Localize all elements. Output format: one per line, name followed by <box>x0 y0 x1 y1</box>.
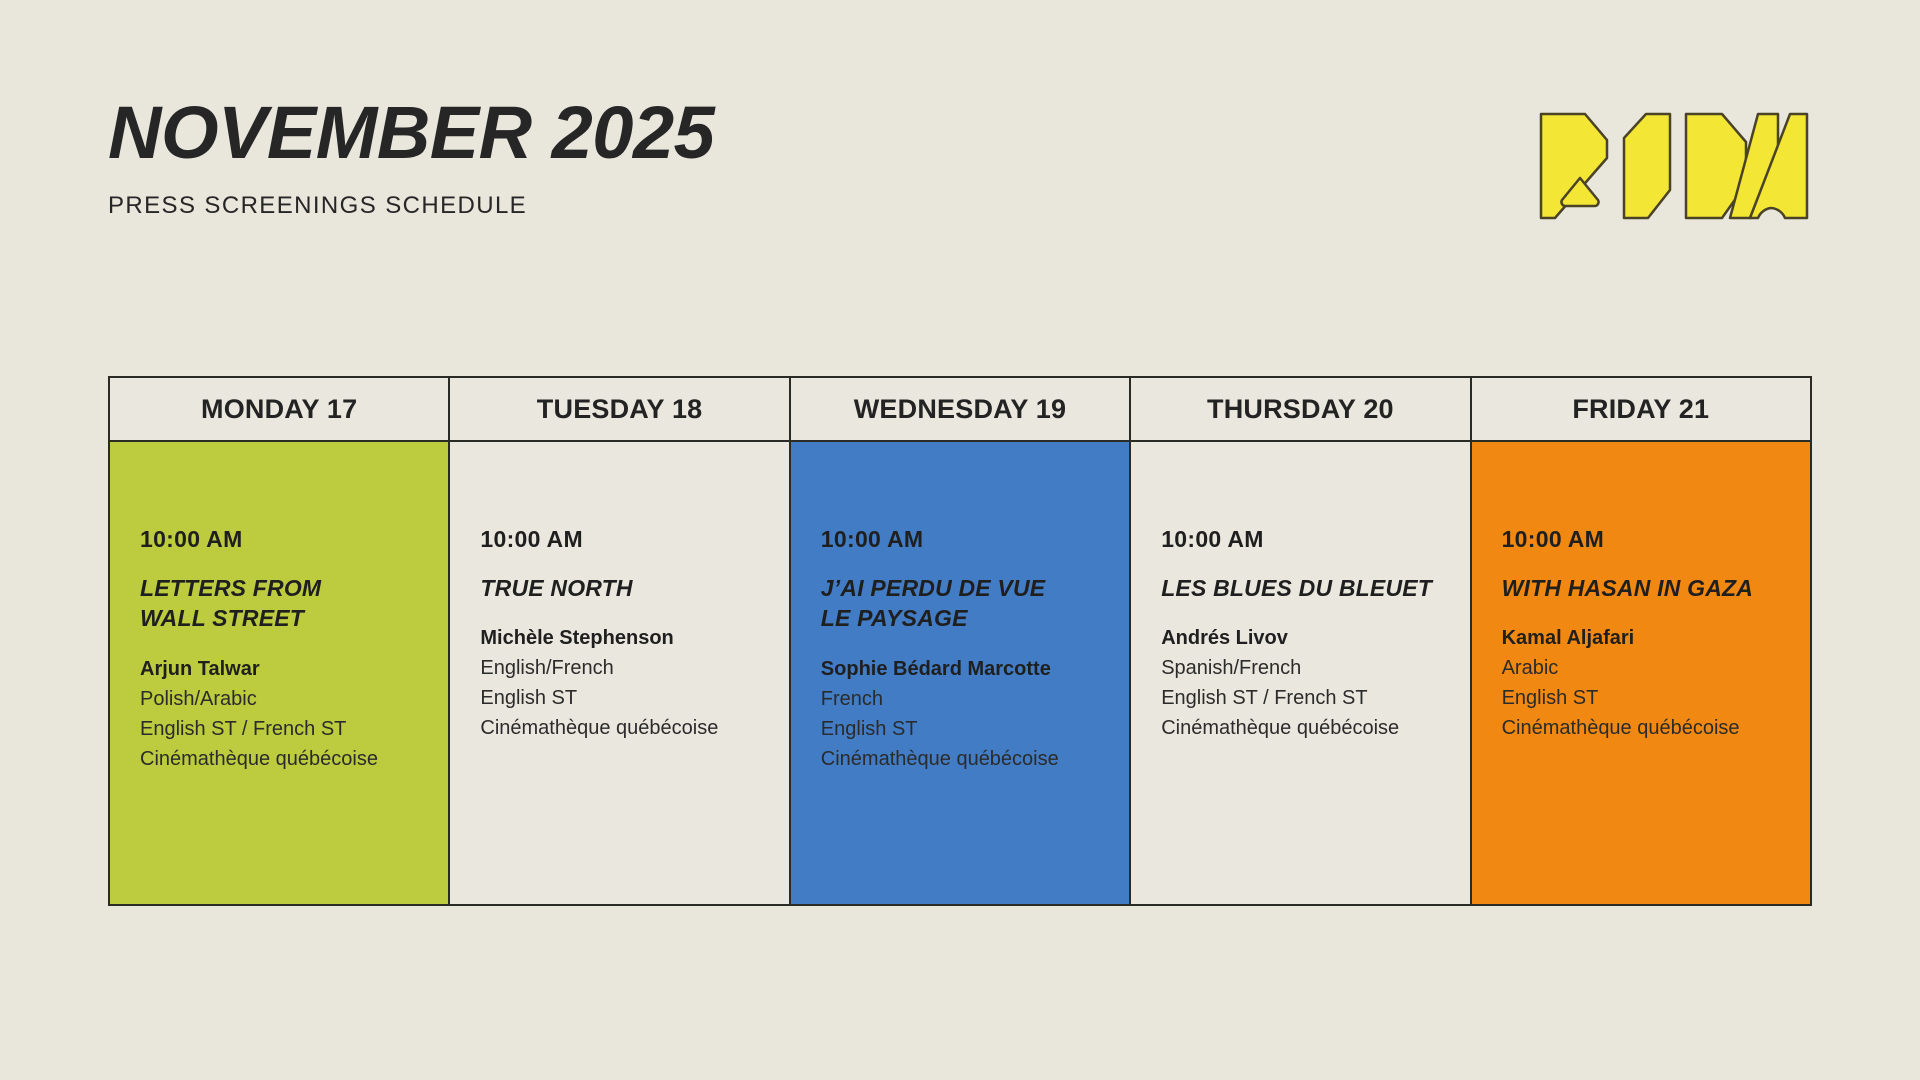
film-title: LES BLUES DU BLEUET <box>1161 573 1439 603</box>
day-header-friday: FRIDAY 21 <box>1472 378 1810 442</box>
film-title: J’AI PERDU DE VUE LE PAYSAGE <box>821 573 1099 634</box>
schedule-table: MONDAY 17 10:00 AM LETTERS FROM WALL STR… <box>108 376 1812 906</box>
schedule-column-monday: MONDAY 17 10:00 AM LETTERS FROM WALL STR… <box>110 378 450 904</box>
screening-time: 10:00 AM <box>1502 526 1780 553</box>
film-languages: English/French <box>480 653 758 683</box>
schedule-cell-friday[interactable]: 10:00 AM WITH HASAN IN GAZA Kamal Aljafa… <box>1472 442 1810 904</box>
screening-time: 10:00 AM <box>480 526 758 553</box>
film-director: Michèle Stephenson <box>480 623 758 653</box>
film-subtitles: English ST / French ST <box>140 714 418 744</box>
film-venue: Cinémathèque québécoise <box>480 713 758 743</box>
schedule-cell-wednesday[interactable]: 10:00 AM J’AI PERDU DE VUE LE PAYSAGE So… <box>791 442 1129 904</box>
film-director: Sophie Bédard Marcotte <box>821 654 1099 684</box>
schedule-column-tuesday: TUESDAY 18 10:00 AM TRUE NORTH Michèle S… <box>450 378 790 904</box>
page-subtitle: PRESS SCREENINGS SCHEDULE <box>108 192 714 220</box>
film-venue: Cinémathèque québécoise <box>140 744 418 774</box>
day-header-thursday: THURSDAY 20 <box>1131 378 1469 442</box>
screening-time: 10:00 AM <box>1161 526 1439 553</box>
schedule-column-wednesday: WEDNESDAY 19 10:00 AM J’AI PERDU DE VUE … <box>791 378 1131 904</box>
film-languages: Polish/Arabic <box>140 684 418 714</box>
press-schedule-page: NOVEMBER 2025 PRESS SCREENINGS SCHEDULE <box>0 0 1920 1080</box>
film-director: Kamal Aljafari <box>1502 623 1780 653</box>
screening-time: 10:00 AM <box>821 526 1099 553</box>
screening-time: 10:00 AM <box>140 526 418 553</box>
day-header-tuesday: TUESDAY 18 <box>450 378 788 442</box>
page-header: NOVEMBER 2025 PRESS SCREENINGS SCHEDULE <box>108 96 1812 256</box>
page-title: NOVEMBER 2025 <box>108 96 714 170</box>
film-venue: Cinémathèque québécoise <box>821 744 1099 774</box>
film-languages: Arabic <box>1502 653 1780 683</box>
film-director: Andrés Livov <box>1161 623 1439 653</box>
film-title: TRUE NORTH <box>480 573 758 603</box>
schedule-column-friday: FRIDAY 21 10:00 AM WITH HASAN IN GAZA Ka… <box>1472 378 1812 904</box>
film-venue: Cinémathèque québécoise <box>1502 713 1780 743</box>
ridm-logo <box>1536 104 1812 224</box>
schedule-column-thursday: THURSDAY 20 10:00 AM LES BLUES DU BLEUET… <box>1131 378 1471 904</box>
schedule-cell-tuesday[interactable]: 10:00 AM TRUE NORTH Michèle Stephenson E… <box>450 442 788 904</box>
film-subtitles: English ST / French ST <box>1161 683 1439 713</box>
film-subtitles: English ST <box>821 714 1099 744</box>
day-header-wednesday: WEDNESDAY 19 <box>791 378 1129 442</box>
film-venue: Cinémathèque québécoise <box>1161 713 1439 743</box>
film-subtitles: English ST <box>1502 683 1780 713</box>
film-director: Arjun Talwar <box>140 654 418 684</box>
film-title: WITH HASAN IN GAZA <box>1502 573 1780 603</box>
film-subtitles: English ST <box>480 683 758 713</box>
film-title: LETTERS FROM WALL STREET <box>140 573 418 634</box>
schedule-cell-monday[interactable]: 10:00 AM LETTERS FROM WALL STREET Arjun … <box>110 442 448 904</box>
schedule-cell-thursday[interactable]: 10:00 AM LES BLUES DU BLEUET Andrés Livo… <box>1131 442 1469 904</box>
title-block: NOVEMBER 2025 PRESS SCREENINGS SCHEDULE <box>108 96 714 220</box>
film-languages: French <box>821 684 1099 714</box>
day-header-monday: MONDAY 17 <box>110 378 448 442</box>
film-languages: Spanish/French <box>1161 653 1439 683</box>
